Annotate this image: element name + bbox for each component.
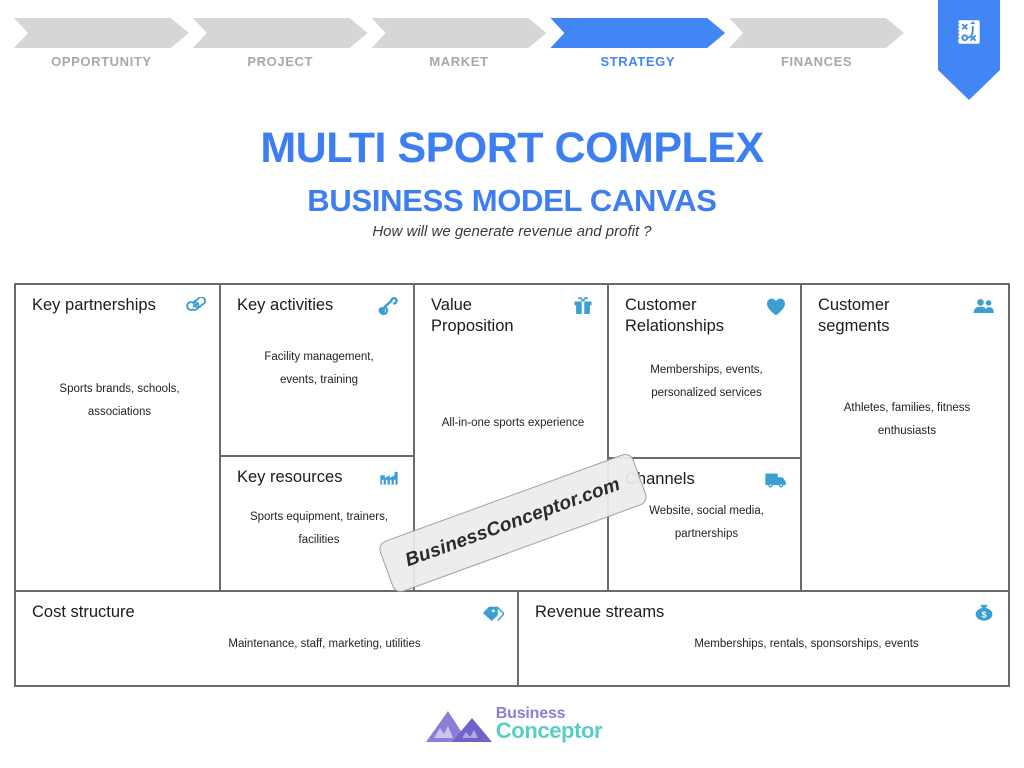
- title-block: MULTI SPORT COMPLEX BUSINESS MODEL CANVA…: [0, 126, 1024, 240]
- stepper-step-opportunity[interactable]: OPPORTUNITY: [14, 18, 189, 88]
- canvas-cell-customer-segments[interactable]: Customer segments Athletes, families, fi…: [802, 285, 1008, 592]
- price-tag-icon: [480, 601, 506, 625]
- chevron-shape-finances: [729, 18, 904, 48]
- chevron-shape-project: [193, 18, 368, 48]
- key-activities-body: Facility management, events, training: [237, 346, 401, 392]
- canvas-cell-revenue-streams[interactable]: Revenue streams $ Memberships, rentals, …: [519, 592, 1008, 685]
- customer-segments-title: Customer segments: [818, 295, 956, 337]
- chevron-shape-opportunity: [14, 18, 189, 48]
- gift-icon: [570, 294, 596, 318]
- page-subtitle: BUSINESS MODEL CANVAS: [0, 183, 1024, 219]
- key-activities-title: Key activities: [237, 295, 361, 316]
- stepper-label-finances: FINANCES: [729, 54, 904, 69]
- stepper-label-strategy: STRATEGY: [550, 54, 725, 69]
- canvas-cell-key-resources[interactable]: Key resources Sports equipment, trainers…: [221, 457, 415, 592]
- stepper-step-finances[interactable]: FINANCES: [729, 18, 904, 88]
- money-bag-icon: $: [971, 601, 997, 625]
- canvas-cell-cost-structure[interactable]: Cost structure Maintenance, staff, marke…: [16, 592, 519, 685]
- stepper-label-market: MARKET: [372, 54, 547, 69]
- customer-relationships-body: Memberships, events, personalized servic…: [625, 359, 788, 405]
- chain-link-icon: [182, 294, 208, 318]
- stage-badge-pin: [938, 0, 1000, 100]
- factory-icon: [376, 466, 402, 490]
- key-resources-body: Sports equipment, trainers, facilities: [237, 506, 401, 552]
- customer-segments-body: Athletes, families, fitness enthusiasts: [818, 397, 996, 443]
- truck-icon: [763, 468, 789, 492]
- revenue-streams-body: Memberships, rentals, sponsorships, even…: [535, 633, 996, 656]
- stepper-label-opportunity: OPPORTUNITY: [14, 54, 189, 69]
- chevron-shape-market: [372, 18, 547, 48]
- page-tagline: How will we generate revenue and profit …: [0, 223, 1024, 240]
- canvas-cell-key-partnerships[interactable]: Key partnerships Sports brands, schools,…: [16, 285, 221, 592]
- people-icon: [971, 294, 997, 318]
- shovel-icon: [376, 294, 402, 318]
- canvas-cell-key-activities[interactable]: Key activities Facility management, even…: [221, 285, 415, 457]
- stepper-step-market[interactable]: MARKET: [372, 18, 547, 88]
- stepper-steps: OPPORTUNITY PROJECT MARKET STRATEGY FINA…: [14, 18, 904, 88]
- svg-text:$: $: [982, 610, 987, 620]
- stepper-step-strategy[interactable]: STRATEGY: [550, 18, 725, 88]
- logo-text-conceptor: Conceptor: [496, 721, 602, 740]
- revenue-streams-title: Revenue streams: [535, 602, 956, 623]
- footer-logo: Business Conceptor: [0, 704, 1024, 746]
- stage-stepper: OPPORTUNITY PROJECT MARKET STRATEGY FINA…: [0, 0, 1024, 110]
- stepper-step-project[interactable]: PROJECT: [193, 18, 368, 88]
- value-proposition-title: Value Proposition: [431, 295, 555, 337]
- business-model-canvas: Key partnerships Sports brands, schools,…: [14, 283, 1010, 687]
- chevron-shape-strategy: [550, 18, 725, 48]
- cost-structure-title: Cost structure: [32, 602, 465, 623]
- strategy-playbook-icon: [954, 17, 984, 47]
- page-title: MULTI SPORT COMPLEX: [0, 126, 1024, 171]
- canvas-cell-customer-relationships[interactable]: Customer Relationships Memberships, even…: [609, 285, 802, 459]
- key-partnerships-body: Sports brands, schools, associations: [32, 378, 207, 424]
- channels-body: Website, social media, partnerships: [625, 500, 788, 546]
- heart-icon: [763, 294, 789, 318]
- customer-relationships-title: Customer Relationships: [625, 295, 748, 337]
- stepper-label-project: PROJECT: [193, 54, 368, 69]
- key-partnerships-title: Key partnerships: [32, 295, 167, 316]
- cost-structure-body: Maintenance, staff, marketing, utilities: [32, 633, 505, 656]
- key-resources-title: Key resources: [237, 467, 361, 488]
- value-proposition-body: All-in-one sports experience: [431, 412, 595, 435]
